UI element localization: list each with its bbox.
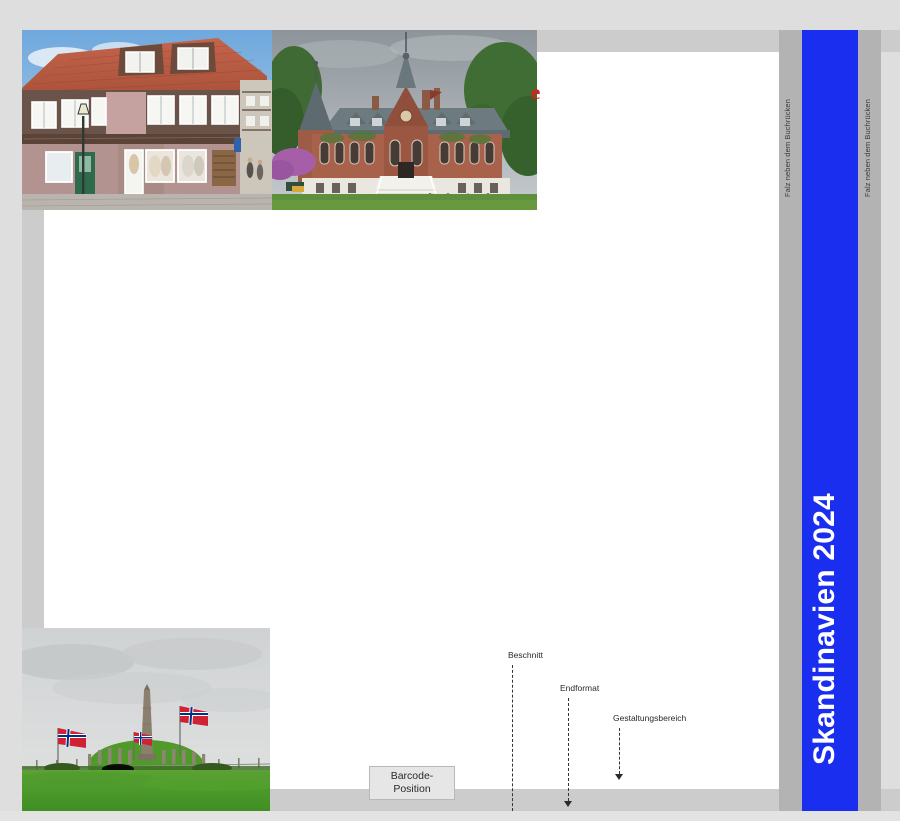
spine-title: Skandinavien 2024 (810, 425, 840, 765)
barcode-label-line1: Barcode- (391, 770, 434, 783)
bleed-band-right-lower (881, 789, 900, 811)
annotation-arrow-endformat (564, 801, 572, 807)
photo-manor-house (272, 30, 537, 210)
photo-monument-with-flags (22, 628, 270, 811)
annotation-arrow-gestaltungsbereich (615, 774, 623, 780)
photo-half-timbered-house (22, 30, 272, 210)
barcode-position-box: Barcode- Position (369, 766, 455, 800)
annotation-line-gestaltungsbereich (619, 728, 620, 774)
trim-band-lower (0, 811, 900, 821)
fold-label-right: Falz neben dem Buchrücken (864, 82, 872, 197)
cover-layout-canvas: Skandinavien 2024 Falz neben dem Buchrüc… (0, 0, 900, 821)
barcode-label-line2: Position (391, 783, 434, 796)
red-registration-mark: e (531, 82, 540, 103)
annotation-line-beschnitt (512, 665, 513, 811)
annotation-line-endformat (568, 698, 569, 801)
annotation-label-gestaltungsbereich: Gestaltungsbereich (613, 714, 686, 723)
fold-label-left: Falz neben dem Buchrücken (784, 82, 792, 197)
bleed-band-right-outer (881, 30, 900, 52)
annotation-label-beschnitt: Beschnitt (508, 651, 543, 660)
annotation-label-endformat: Endformat (560, 684, 599, 693)
